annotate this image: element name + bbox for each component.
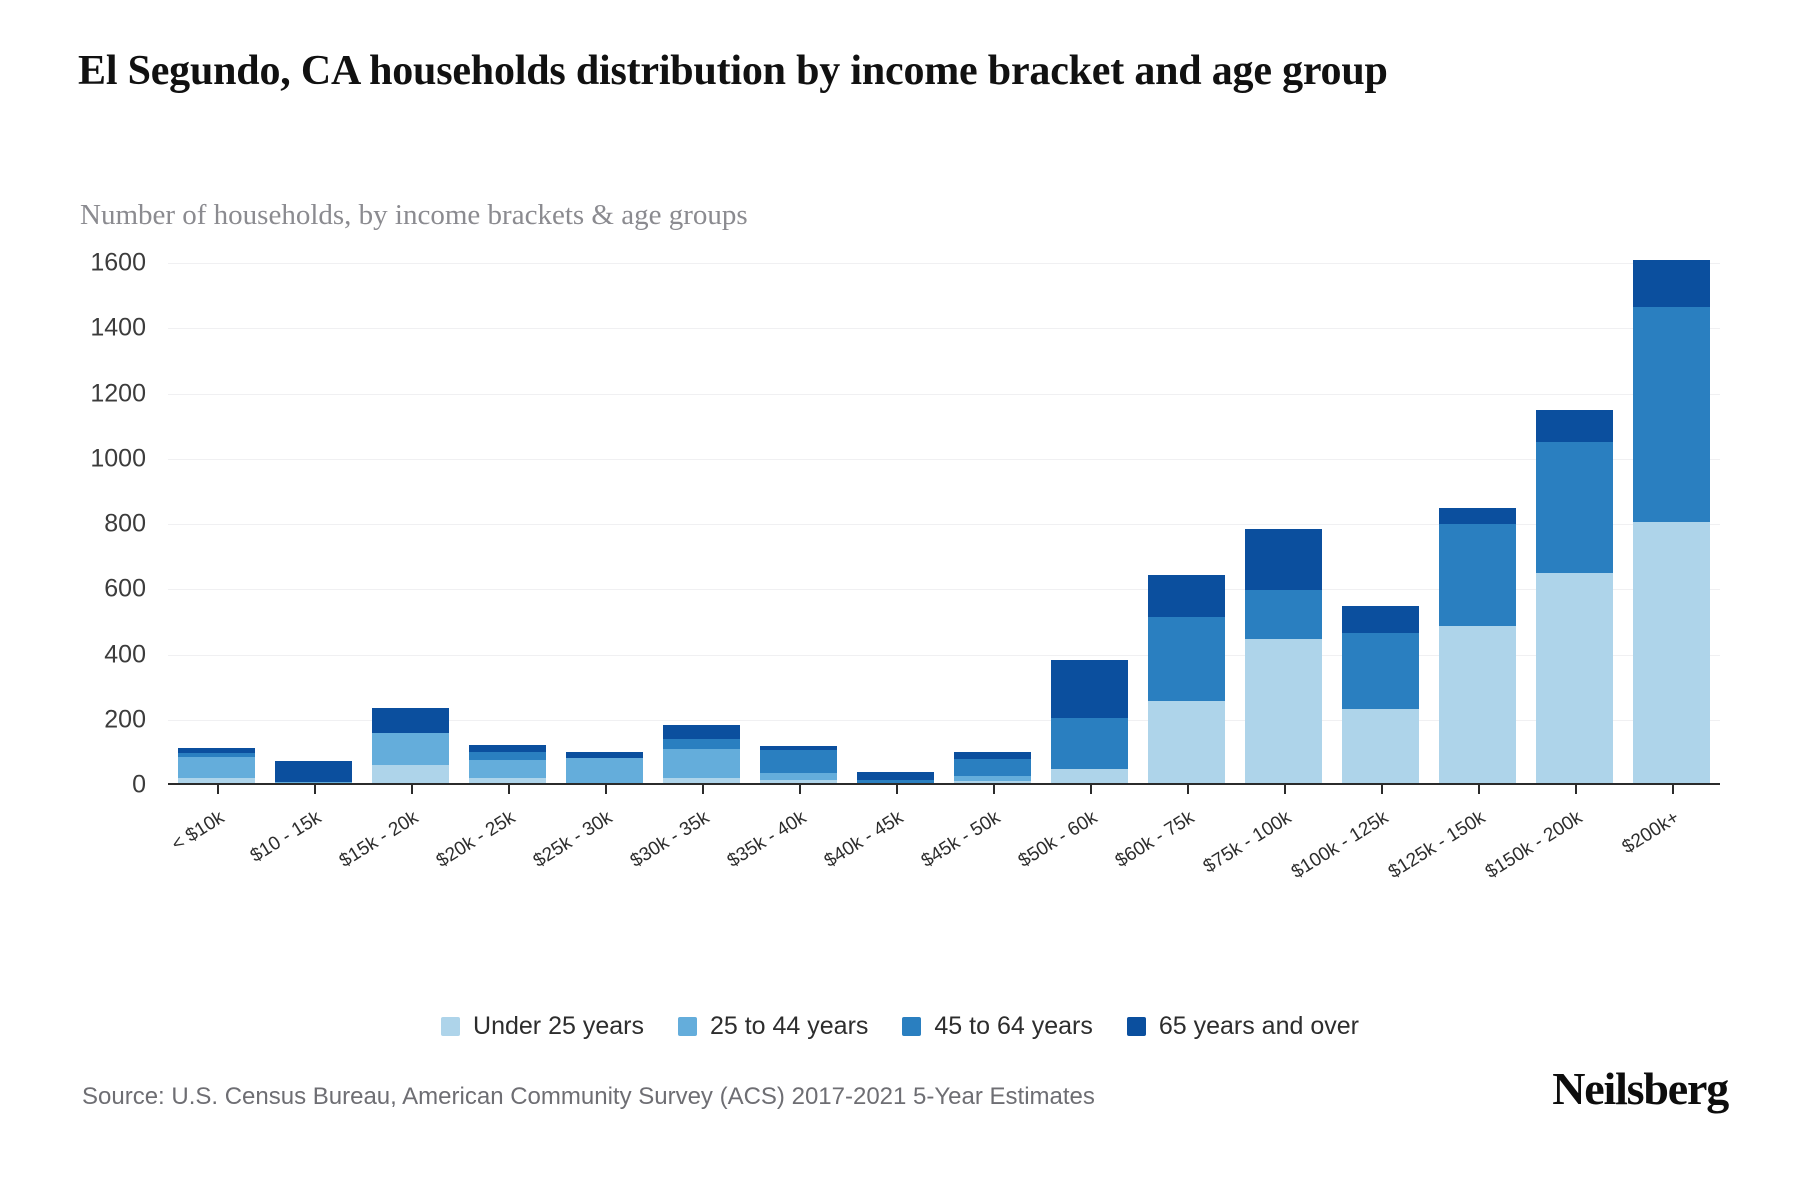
x-axis-tick [411, 785, 413, 794]
legend-label: Under 25 years [473, 1012, 644, 1041]
bar-segment[interactable] [663, 725, 741, 739]
bar-segment[interactable] [1148, 617, 1226, 700]
x-axis-tick-label: $200k+ [1502, 807, 1683, 932]
x-axis-tick-label: $35k - 40k [629, 807, 810, 932]
x-axis-tick [1672, 785, 1674, 794]
legend-item[interactable]: 25 to 44 years [678, 1012, 868, 1041]
bar-segment[interactable] [566, 752, 644, 758]
y-axis-tick-label: 600 [50, 575, 146, 604]
x-axis-tick-label: $20k - 25k [338, 807, 519, 932]
legend-swatch-icon [678, 1017, 697, 1036]
x-axis-tick-label: $10 - 15k [144, 807, 325, 932]
x-axis-tick [217, 785, 219, 794]
bar-segment[interactable] [1342, 633, 1420, 709]
bar-group[interactable] [857, 263, 935, 785]
bar-group[interactable] [954, 263, 1032, 785]
x-axis-tick-label: < $10k [47, 807, 228, 932]
legend-swatch-icon [1127, 1017, 1146, 1036]
bar-group[interactable] [1245, 263, 1323, 785]
legend-item[interactable]: 65 years and over [1127, 1012, 1359, 1041]
x-axis-tick [1478, 785, 1480, 794]
bar-segment[interactable] [372, 708, 450, 733]
bar-segment[interactable] [566, 758, 644, 785]
bar-group[interactable] [469, 263, 547, 785]
y-axis-tick-label: 1200 [50, 379, 146, 408]
x-axis-tick-label: $15k - 20k [241, 807, 422, 932]
y-axis-tick-label: 200 [50, 705, 146, 734]
y-axis-tick-label: 400 [50, 640, 146, 669]
x-axis-tick [702, 785, 704, 794]
chart-page: El Segundo, CA households distribution b… [0, 0, 1800, 1200]
bar-segment[interactable] [1051, 660, 1129, 718]
x-axis-tick-label: $40k - 45k [726, 807, 907, 932]
x-axis-tick [1284, 785, 1286, 794]
bar-segment[interactable] [954, 759, 1032, 776]
x-axis-tick [799, 785, 801, 794]
x-axis-tick-label: $125k - 150k [1308, 807, 1489, 932]
bar-segment[interactable] [1245, 590, 1323, 640]
bar-segment[interactable] [1536, 573, 1614, 785]
y-axis-tick-label: 1600 [50, 249, 146, 278]
bar-segment[interactable] [663, 739, 741, 749]
page-subtitle: Number of households, by income brackets… [80, 198, 748, 233]
x-axis-tick [993, 785, 995, 794]
bar-segment[interactable] [469, 752, 547, 760]
x-axis-tick-label: $60k - 75k [1017, 807, 1198, 932]
bar-segment[interactable] [760, 750, 838, 772]
bar-segment[interactable] [178, 753, 256, 757]
chart-legend: Under 25 years25 to 44 years45 to 64 yea… [0, 1012, 1800, 1041]
source-note: Source: U.S. Census Bureau, American Com… [82, 1083, 1095, 1111]
legend-label: 45 to 64 years [934, 1012, 1092, 1041]
y-axis-tick-label: 800 [50, 510, 146, 539]
bar-segment[interactable] [372, 733, 450, 765]
bar-segment[interactable] [857, 772, 935, 780]
bar-segment[interactable] [1439, 626, 1517, 785]
bar-group[interactable] [372, 263, 450, 785]
legend-swatch-icon [902, 1017, 921, 1036]
x-axis-tick [1575, 785, 1577, 794]
y-axis-tick-label: 0 [50, 771, 146, 800]
x-axis-tick-label: $25k - 30k [435, 807, 616, 932]
x-axis-tick-label: $100k - 125k [1211, 807, 1392, 932]
x-axis-tick [896, 785, 898, 794]
bar-segment[interactable] [1245, 529, 1323, 589]
x-axis-tick [314, 785, 316, 794]
bar-segment[interactable] [1439, 508, 1517, 524]
bar-segment[interactable] [1633, 522, 1711, 785]
legend-label: 65 years and over [1159, 1012, 1359, 1041]
bar-series-container [168, 263, 1720, 785]
x-axis-tick [1187, 785, 1189, 794]
legend-item[interactable]: Under 25 years [441, 1012, 644, 1041]
bar-group[interactable] [1148, 263, 1226, 785]
x-axis-tick-label: $30k - 35k [532, 807, 713, 932]
page-title: El Segundo, CA households distribution b… [78, 46, 1638, 97]
bar-group[interactable] [275, 263, 353, 785]
bar-group[interactable] [1342, 263, 1420, 785]
bar-segment[interactable] [1148, 701, 1226, 785]
bar-segment[interactable] [1536, 442, 1614, 572]
bar-segment[interactable] [178, 748, 256, 754]
brand-logo: Neilsberg [1552, 1062, 1728, 1115]
x-axis-tick-label: $50k - 60k [920, 807, 1101, 932]
plot-area: 02004006008001000120014001600 < $10k$10 … [168, 263, 1720, 785]
gridline [168, 785, 1720, 786]
bar-segment[interactable] [1633, 260, 1711, 307]
bar-segment[interactable] [1536, 410, 1614, 442]
x-axis-line [168, 783, 1720, 785]
bar-segment[interactable] [469, 760, 547, 778]
bar-group[interactable] [566, 263, 644, 785]
x-axis-tick-label: $45k - 50k [823, 807, 1004, 932]
bar-segment[interactable] [372, 765, 450, 785]
bar-group[interactable] [760, 263, 838, 785]
bar-group[interactable] [1633, 263, 1711, 785]
bar-segment[interactable] [1245, 639, 1323, 785]
bar-group[interactable] [1439, 263, 1517, 785]
x-axis-tick-label: $150k - 200k [1405, 807, 1586, 932]
bar-segment[interactable] [469, 745, 547, 752]
bar-group[interactable] [663, 263, 741, 785]
bar-segment[interactable] [1439, 524, 1517, 625]
bar-segment[interactable] [760, 746, 838, 751]
x-axis-tick [1090, 785, 1092, 794]
bar-group[interactable] [1536, 263, 1614, 785]
x-axis-tick [1381, 785, 1383, 794]
bar-segment[interactable] [275, 761, 353, 783]
y-axis-tick-label: 1400 [50, 314, 146, 343]
bar-segment[interactable] [1051, 718, 1129, 769]
x-axis-tick-label: $75k - 100k [1114, 807, 1295, 932]
x-axis-tick [508, 785, 510, 794]
bar-segment[interactable] [1342, 606, 1420, 634]
bar-segment[interactable] [178, 757, 256, 778]
bar-segment[interactable] [663, 749, 741, 779]
bar-group[interactable] [178, 263, 256, 785]
x-axis-tick [605, 785, 607, 794]
y-axis-tick-label: 1000 [50, 444, 146, 473]
legend-swatch-icon [441, 1017, 460, 1036]
bar-segment[interactable] [1342, 709, 1420, 785]
bar-segment[interactable] [954, 776, 1032, 782]
legend-item[interactable]: 45 to 64 years [902, 1012, 1092, 1041]
bar-segment[interactable] [1148, 575, 1226, 618]
bar-segment[interactable] [760, 773, 838, 781]
bar-group[interactable] [1051, 263, 1129, 785]
bar-segment[interactable] [1633, 307, 1711, 522]
bar-segment[interactable] [954, 752, 1032, 758]
legend-label: 25 to 44 years [710, 1012, 868, 1041]
